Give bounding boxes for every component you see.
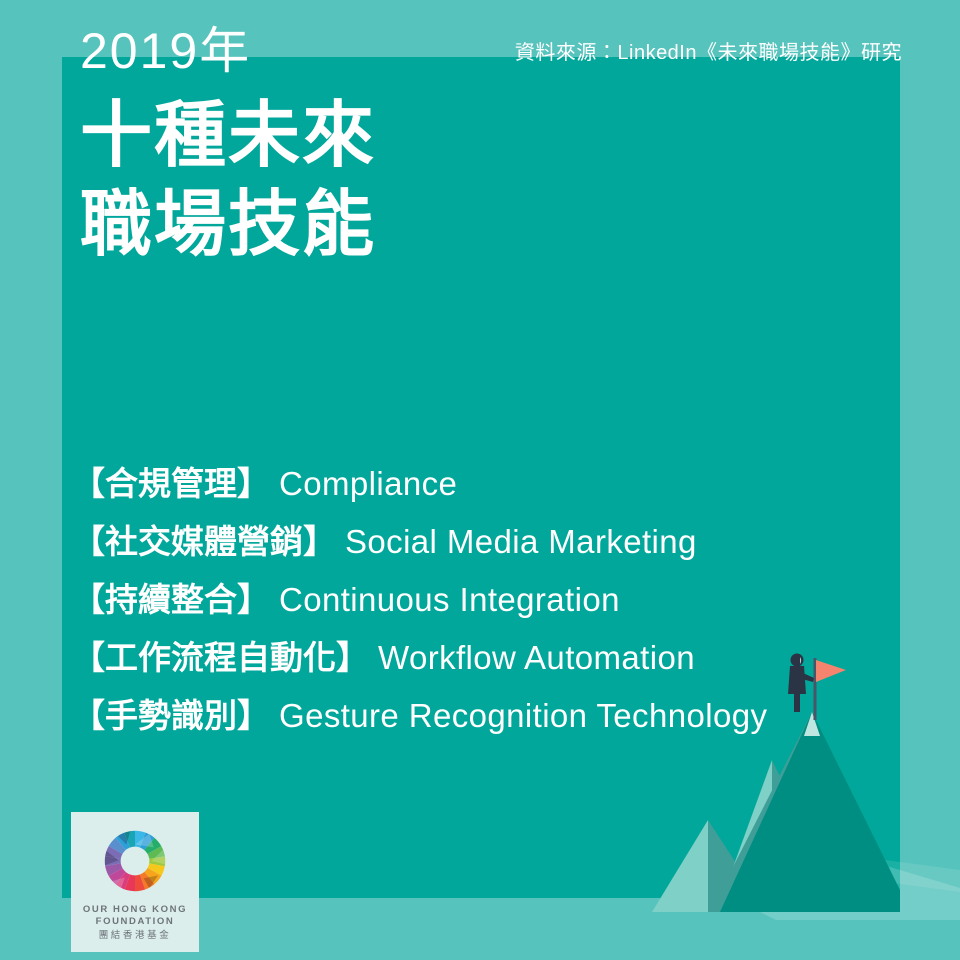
logo-wordmark: OUR HONG KONG FOUNDATION 團結香港基金	[83, 904, 187, 942]
logo-line-1: OUR HONG KONG	[83, 904, 187, 916]
list-item: 【持續整合】Continuous Integration	[72, 577, 902, 635]
list-item: 【社交媒體營銷】Social Media Marketing	[72, 519, 902, 577]
list-item: 【手勢識別】Gesture Recognition Technology	[72, 693, 902, 751]
skill-label-zh: 【手勢識別】	[72, 697, 270, 734]
skill-label-en: Workflow Automation	[378, 639, 695, 676]
source-credit: 資料來源：LinkedIn《未來職場技能》研究	[515, 36, 902, 65]
poster-canvas: 資料來源：LinkedIn《未來職場技能》研究 2019年 十種未來 職場技能 …	[0, 0, 960, 960]
ohkf-ring-icon	[99, 825, 171, 897]
page-title: 十種未來 職場技能	[80, 92, 376, 271]
logo-line-3: 團結香港基金	[83, 930, 187, 942]
headline-line-2: 職場技能	[80, 181, 376, 270]
skills-list: 【合規管理】Compliance 【社交媒體營銷】Social Media Ma…	[72, 461, 902, 751]
year-label: 2019年	[80, 26, 251, 76]
skill-label-zh: 【持續整合】	[72, 581, 270, 618]
skill-label-en: Compliance	[279, 465, 457, 502]
skill-label-zh: 【合規管理】	[72, 465, 270, 502]
skill-label-en: Continuous Integration	[279, 581, 620, 618]
skill-label-zh: 【工作流程自動化】	[72, 639, 369, 676]
list-item: 【工作流程自動化】Workflow Automation	[72, 635, 902, 693]
logo: OUR HONG KONG FOUNDATION 團結香港基金	[71, 812, 199, 952]
skill-label-zh: 【社交媒體營銷】	[72, 523, 336, 560]
list-item: 【合規管理】Compliance	[72, 461, 902, 519]
skill-label-en: Social Media Marketing	[345, 523, 697, 560]
headline-line-1: 十種未來	[80, 92, 376, 181]
skill-label-en: Gesture Recognition Technology	[279, 697, 767, 734]
logo-line-2: FOUNDATION	[83, 916, 187, 928]
